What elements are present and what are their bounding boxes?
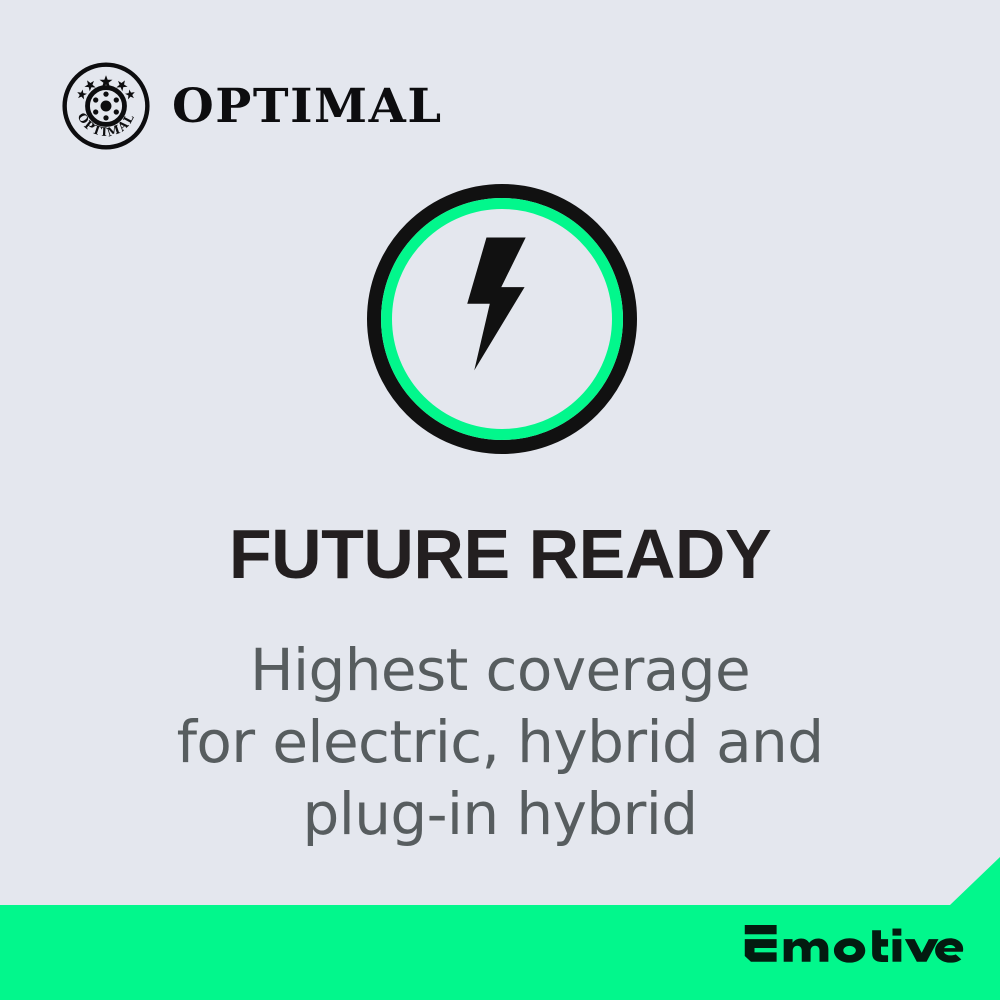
poster-canvas: OPTIMAL OPTIMAL FUTURE READY Highest cov… (0, 0, 1000, 1000)
footer-band: Emotive (0, 857, 1000, 1000)
lightning-bolt-in-circle-icon (367, 184, 637, 454)
emotive-logo: Emotive (743, 925, 964, 971)
subhead-line-2: for electric, hybrid and (0, 706, 1000, 778)
subhead-text: Highest coverage for electric, hybrid an… (0, 634, 1000, 850)
subhead-line-3: plug-in hybrid (0, 778, 1000, 850)
page-title: FUTURE READY (0, 519, 1000, 589)
subhead-line-1: Highest coverage (0, 634, 1000, 706)
brand-lockup: OPTIMAL OPTIMAL (62, 62, 437, 150)
brand-wordmark: OPTIMAL (172, 83, 443, 130)
optimal-seal-icon: OPTIMAL (62, 62, 150, 150)
svg-text:OPTIMAL: OPTIMAL (75, 110, 138, 139)
